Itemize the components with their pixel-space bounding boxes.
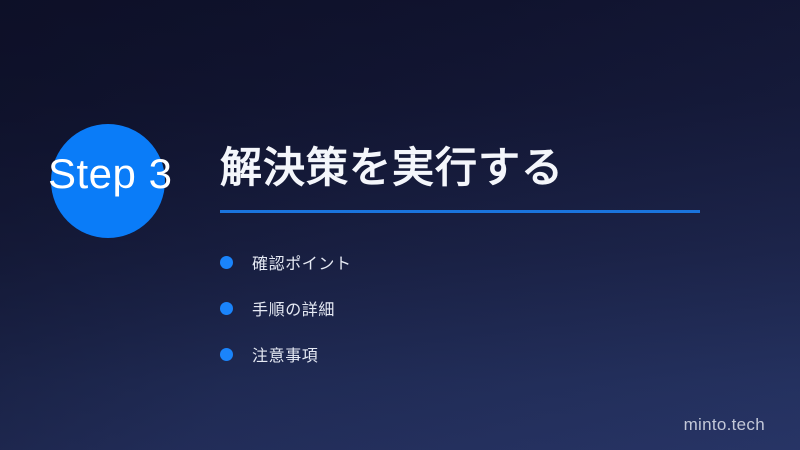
bullet-dot-icon <box>220 348 233 361</box>
slide-canvas: Step 3 解決策を実行する 確認ポイント 手順の詳細 注意事項 minto.… <box>0 0 800 450</box>
step-number-label: Step 3 <box>48 150 248 198</box>
bullet-label: 確認ポイント <box>252 250 352 274</box>
list-item: 注意事項 <box>220 331 352 377</box>
list-item: 手順の詳細 <box>220 285 352 331</box>
bullet-list: 確認ポイント 手順の詳細 注意事項 <box>220 239 352 377</box>
bullet-label: 注意事項 <box>252 342 318 366</box>
bullet-label: 手順の詳細 <box>252 296 335 320</box>
bullet-dot-icon <box>220 302 233 315</box>
list-item: 確認ポイント <box>220 239 352 285</box>
brand-watermark: minto.tech <box>684 415 765 435</box>
slide-title: 解決策を実行する <box>220 142 564 194</box>
bullet-dot-icon <box>220 256 233 269</box>
title-divider-rule <box>220 210 700 213</box>
